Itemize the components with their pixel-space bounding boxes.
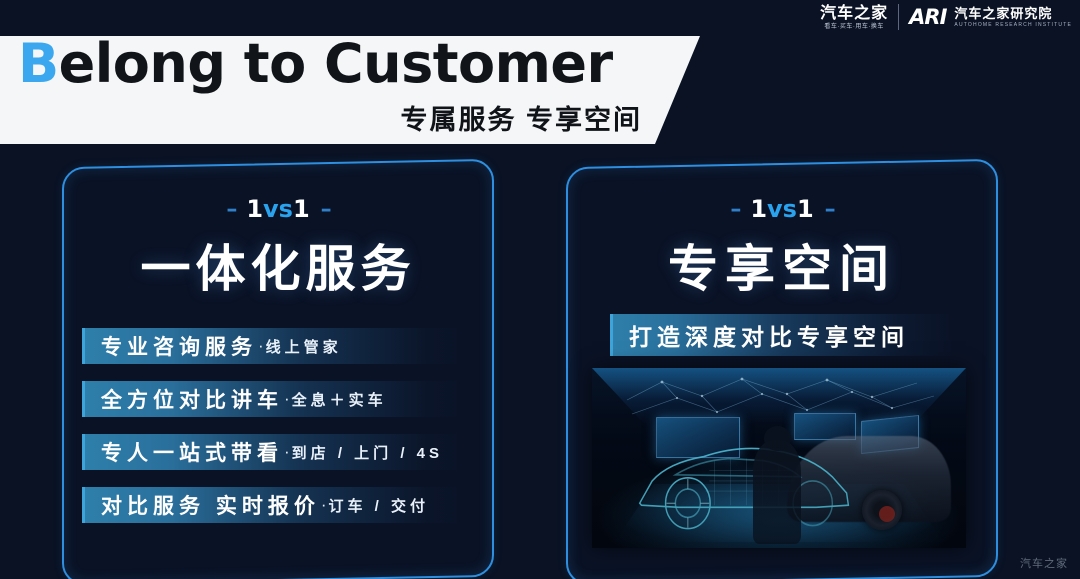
card-left-badge: – 1vs1 – (64, 195, 492, 223)
service-item-4-strong: 对比服务 实时报价 (101, 490, 320, 520)
header-logo-bar: 汽车之家 看车·买车·用车·换车 ARI 汽车之家研究院 AUTOHOME RE… (820, 4, 1072, 30)
service-item-1-weak: 线上管家 (266, 336, 342, 357)
service-item-3-strong: 专人一站式带看 (101, 437, 283, 467)
service-item-4-sep: · (321, 495, 327, 515)
service-item-1-sep: · (258, 336, 264, 356)
service-item-2-sep: · (284, 389, 290, 409)
service-item-2-weak: 全息＋实车 (292, 389, 387, 410)
badge-one-left: 1 (246, 195, 263, 223)
service-item-2-strong: 全方位对比讲车 (101, 384, 283, 414)
showroom-photo (592, 368, 966, 548)
card-right-badge: – 1vs1 – (568, 195, 996, 223)
service-item-1-strong: 专业咨询服务 (101, 331, 257, 361)
badge-dash-left: – (226, 197, 235, 222)
exclusive-space-caption: 打造深度对比专享空间 (610, 314, 952, 356)
service-item-3-sep: · (284, 442, 290, 462)
badge-one-left: 1 (750, 195, 767, 223)
badge-dash-right: – (321, 197, 330, 222)
badge-vs: vs (263, 195, 293, 223)
photo-tint-overlay (592, 368, 966, 548)
service-item-3: 专人一站式带看 · 到店 / 上门 / 4S (82, 434, 472, 470)
badge-one-right: 1 (293, 195, 310, 223)
slide-canvas: 汽车之家 看车·买车·用车·换车 ARI 汽车之家研究院 AUTOHOME RE… (0, 0, 1080, 579)
autohome-logo-tagline: 看车·买车·用车·换车 (824, 24, 884, 30)
service-item-1: 专业咨询服务 · 线上管家 (82, 328, 472, 364)
autohome-logo-name: 汽车之家 (820, 5, 888, 21)
page-title-rest: elong to Customer (59, 32, 613, 95)
ari-name-cn: 汽车之家研究院 (954, 7, 1072, 20)
logo-divider (898, 4, 899, 30)
autohome-logo: 汽车之家 看车·买车·用车·换车 (820, 5, 888, 30)
exclusive-space-caption-text: 打造深度对比专享空间 (629, 318, 909, 352)
page-title-accent-letter: B (18, 32, 59, 95)
badge-1vs1: 1vs1 (750, 195, 813, 223)
card-right-title: 专享空间 (568, 229, 996, 301)
page-subtitle: 专属服务 专享空间 (400, 98, 642, 137)
badge-vs: vs (767, 195, 797, 223)
badge-one-right: 1 (797, 195, 814, 223)
card-left-title: 一体化服务 (64, 229, 492, 301)
service-item-2: 全方位对比讲车 · 全息＋实车 (82, 381, 472, 417)
title-banner: Belong to Customer 专属服务 专享空间 (0, 36, 700, 144)
badge-dash-right: – (825, 197, 834, 222)
service-item-4: 对比服务 实时报价 · 订车 / 交付 (82, 487, 472, 523)
research-institute-logo: ARI 汽车之家研究院 AUTOHOME RESEARCH INSTITUTE (909, 5, 1072, 29)
ari-monogram-icon: ARI (909, 5, 946, 29)
ari-name-en: AUTOHOME RESEARCH INSTITUTE (954, 23, 1072, 28)
badge-dash-left: – (730, 197, 739, 222)
watermark: 汽车之家 (1020, 555, 1068, 571)
page-title: Belong to Customer (18, 32, 613, 95)
badge-1vs1: 1vs1 (246, 195, 309, 223)
service-item-4-weak: 订车 / 交付 (329, 495, 430, 516)
service-item-3-weak: 到店 / 上门 / 4S (292, 442, 443, 463)
